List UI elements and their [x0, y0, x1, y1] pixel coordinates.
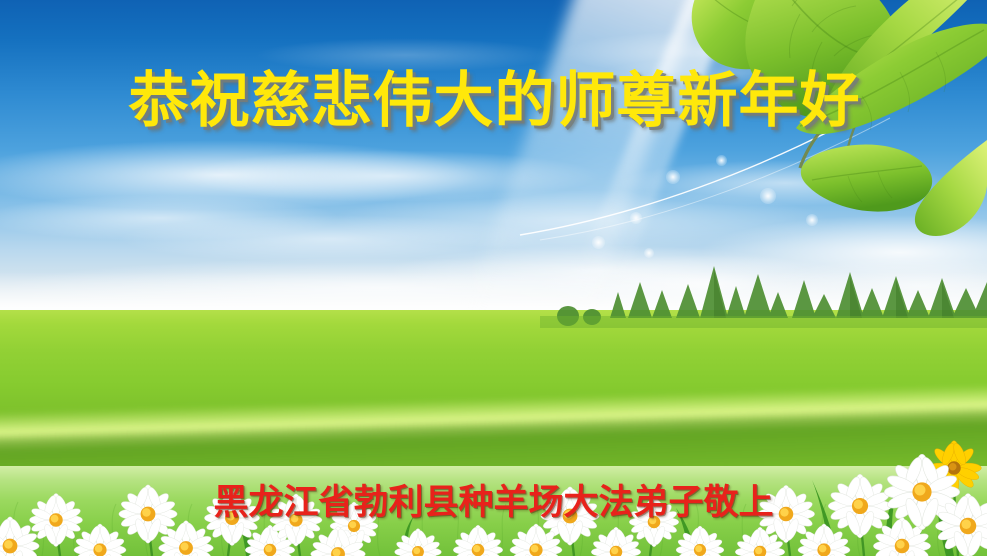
signature-text: 黑龙江省勃利县种羊场大法弟子敬上: [0, 474, 987, 525]
greeting-card-image: 恭祝慈悲伟大的师尊新年好 黑龙江省勃利县种羊场大法弟子敬上: [0, 0, 987, 556]
leaf: [801, 145, 932, 212]
page-title: 恭祝慈悲伟大的师尊新年好: [0, 52, 987, 139]
conifer-tree-line: [0, 258, 987, 328]
